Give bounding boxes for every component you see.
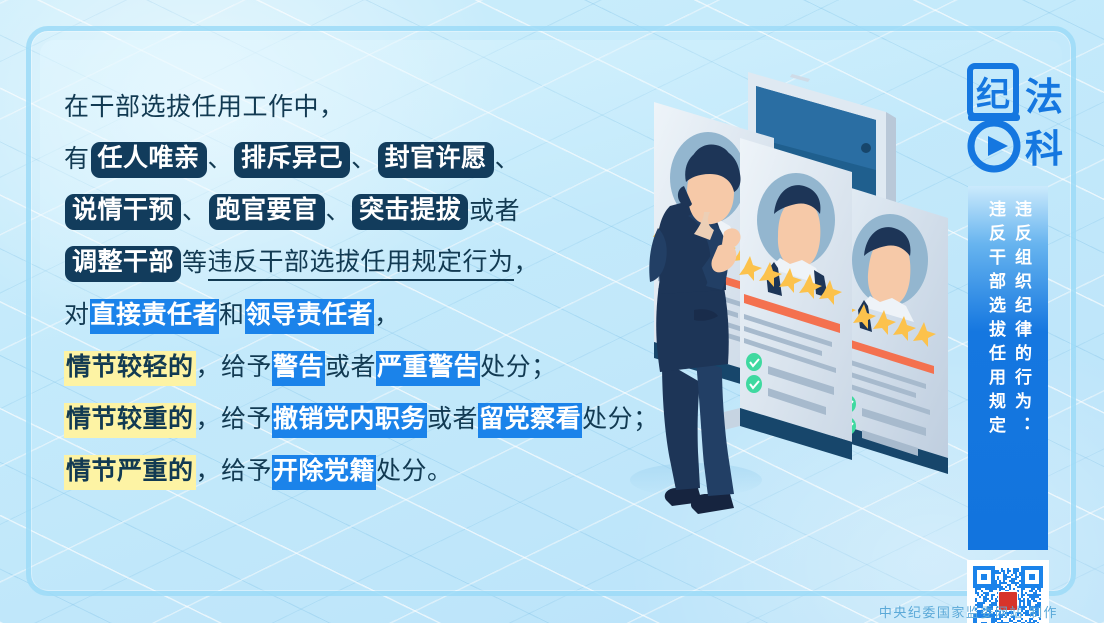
text-run: ，给予: [196, 394, 273, 446]
footer-credit: 中央纪委国家监委网站 制作: [879, 602, 1058, 621]
blue-run: 警告: [272, 351, 325, 386]
text-run: 、: [208, 134, 234, 186]
text-line-4: 调整干部等违反干部选拔任用规定行为，: [64, 238, 684, 290]
tag-run: 调整干部: [65, 246, 181, 282]
text-run: 处分。: [376, 446, 453, 498]
logo-char-fa: 法: [1025, 77, 1063, 119]
blue-run: 撤销党内职务: [272, 403, 427, 438]
category-banner: 违反组织纪律的行为： 违反干部选拔任用规定: [968, 186, 1048, 550]
underline-run: 违反干部选拔任用规定行为: [208, 248, 514, 281]
tag-run: 突击提拔: [352, 194, 468, 230]
tag-run: 跑官要官: [209, 194, 325, 230]
text-run: 和: [219, 290, 245, 342]
text-run: 或者: [325, 342, 376, 394]
blue-run: 领导责任者: [245, 299, 375, 334]
text-run: 或者: [469, 186, 520, 238]
poster-canvas: 在干部选拔任用工作中， 有任人唯亲、排斥异己、封官许愿、 说情干预、跑官要官、突…: [0, 0, 1104, 623]
play-icon: [988, 136, 1008, 156]
text-line-6: 情节较轻的，给予警告或者严重警告处分；: [64, 342, 684, 394]
text-line-1: 在干部选拔任用工作中，: [64, 82, 684, 134]
text-run: 等: [182, 238, 208, 290]
blue-run: 留党察看: [478, 403, 582, 438]
text-run: 、: [182, 186, 208, 238]
text-run: ，给予: [196, 342, 273, 394]
yellow-run: 情节较轻的: [64, 351, 196, 386]
text-line-5: 对直接责任者和领导责任者，: [64, 290, 684, 342]
blue-run: 直接责任者: [90, 299, 220, 334]
text-run: 处分；: [480, 342, 557, 394]
banner-column-right: 违反组织纪律的行为：: [1009, 200, 1033, 440]
text-run: ，: [374, 290, 400, 342]
tag-run: 排斥异己: [234, 142, 350, 178]
text-run: 在干部选拔任用工作中，: [64, 82, 345, 134]
text-line-2: 有任人唯亲、排斥异己、封官许愿、: [64, 134, 684, 186]
tag-run: 封官许愿: [378, 142, 494, 178]
yellow-run: 情节较重的: [64, 403, 196, 438]
blue-run: 严重警告: [376, 351, 480, 386]
tag-run: 任人唯亲: [91, 142, 207, 178]
blue-run: 开除党籍: [272, 455, 376, 490]
right-rail: 纪 法 科 违反组织纪律的行为： 违反干部选拔任用规定: [950, 58, 1070, 603]
logo-svg: 纪 法 科: [964, 62, 1068, 174]
logo-char-ji: 纪: [976, 76, 1010, 114]
jifa-baike-logo[interactable]: 纪 法 科: [964, 62, 1068, 174]
text-line-8: 情节严重的，给予开除党籍处分。: [64, 446, 684, 498]
yellow-run: 情节严重的: [64, 455, 196, 490]
text-run: 、: [326, 186, 352, 238]
text-run: 处分；: [582, 394, 659, 446]
text-run: 对: [64, 290, 90, 342]
text-line-7: 情节较重的，给予撤销党内职务或者留党察看处分；: [64, 394, 684, 446]
text-run: 、: [351, 134, 377, 186]
text-line-3: 说情干预、跑官要官、突击提拔或者: [64, 186, 684, 238]
logo-char-ke: 科: [1025, 129, 1063, 171]
text-run: 有: [64, 134, 90, 186]
text-run: 或者: [427, 394, 478, 446]
banner-column-left: 违反干部选拔任用规定: [983, 200, 1007, 440]
text-run: 、: [495, 134, 521, 186]
text-run: ，给予: [196, 446, 273, 498]
text-run: ，: [514, 238, 540, 290]
resume-card-2: [724, 138, 852, 460]
main-text: 在干部选拔任用工作中， 有任人唯亲、排斥异己、封官许愿、 说情干预、跑官要官、突…: [64, 82, 684, 498]
tag-run: 说情干预: [65, 194, 181, 230]
